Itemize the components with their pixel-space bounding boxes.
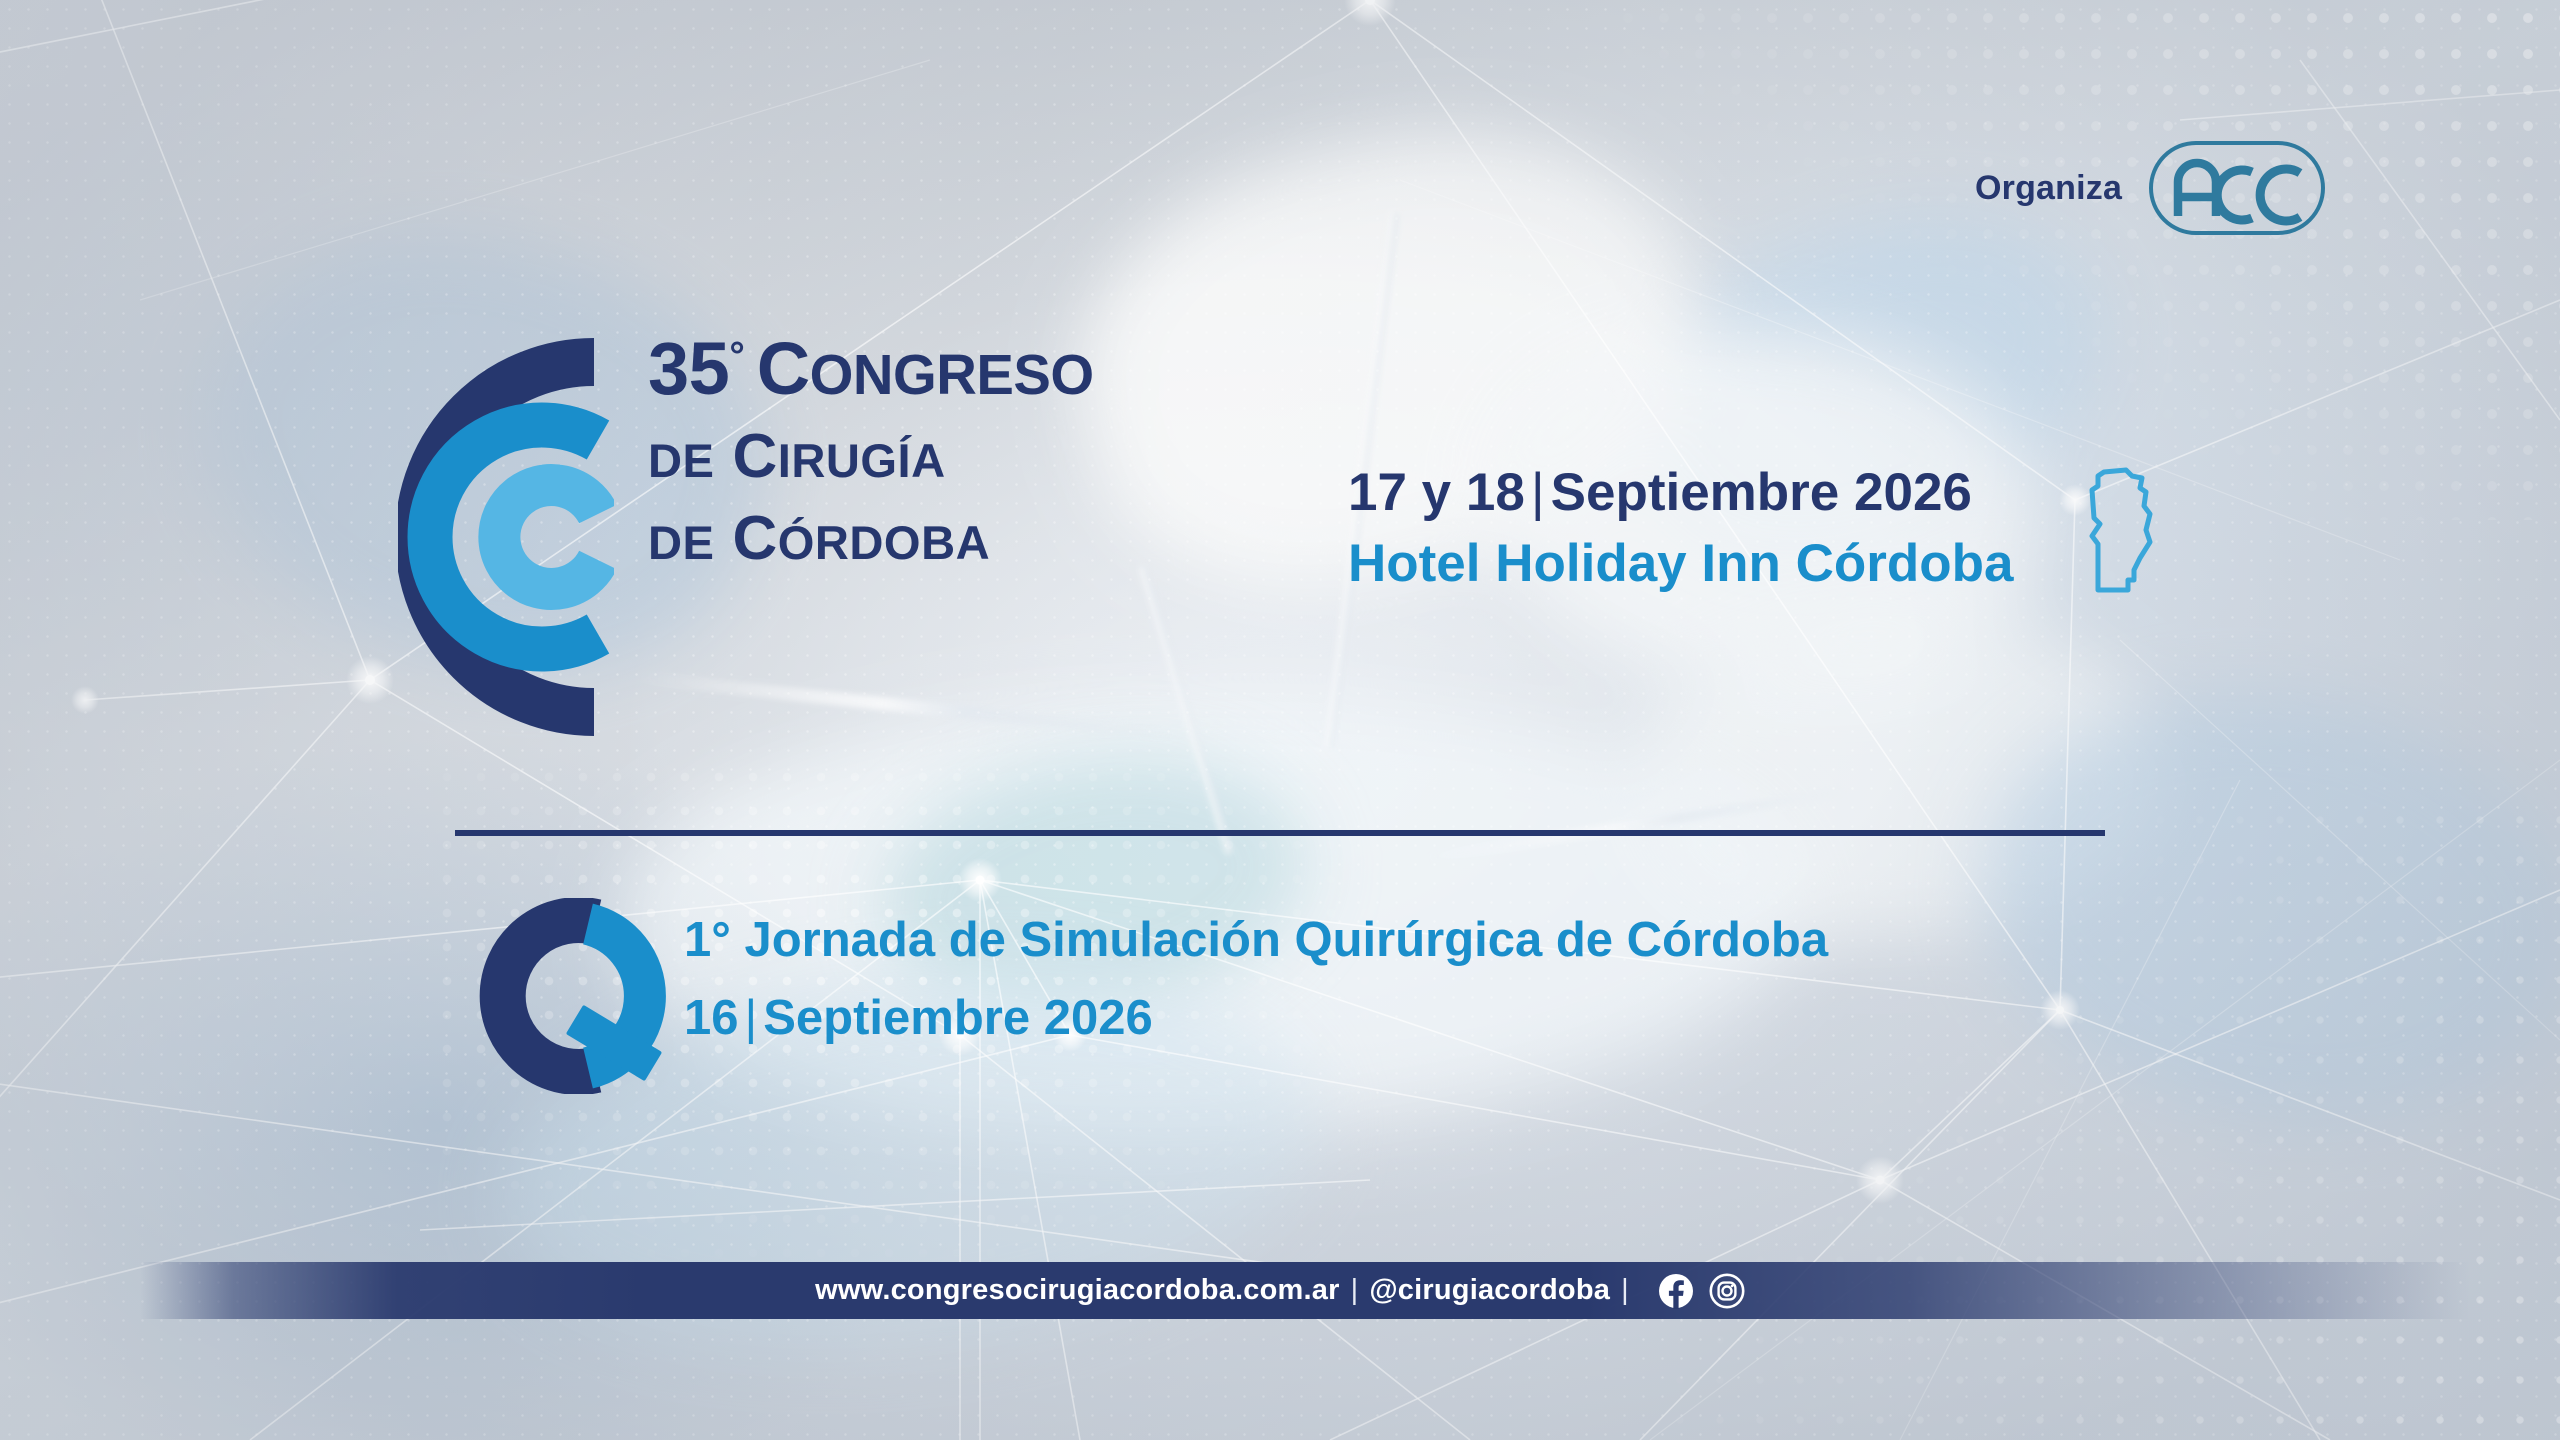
congress-de-2: DE (648, 516, 714, 569)
footer-handle[interactable]: @cirugiacordoba (1369, 1274, 1610, 1307)
footer-content: www.congresocirugiacordoba.com.ar | @cir… (0, 1262, 2560, 1319)
footer-separator-1: | (1340, 1274, 1370, 1307)
organizer-block: Organiza (1975, 140, 2326, 236)
jornada-month-year: Septiembre 2026 (763, 991, 1153, 1045)
jornada-text: 1° Jornada de Simulación Quirúrgica de C… (684, 914, 1828, 1046)
congress-banner: Organiza 35°CO (0, 0, 2560, 1440)
event-venue: Hotel Holiday Inn Córdoba (1348, 535, 2013, 592)
jornada-date-line: 16|Septiembre 2026 (684, 992, 1828, 1046)
event-date-line: 17 y 18|Septiembre 2026 (1348, 464, 2013, 521)
congress-title-text: 35°CONGRESO DECIRUGÍA DECÓRDOBA (648, 332, 1094, 570)
jornada-q-logo (470, 898, 666, 1094)
congress-lockup: 35°CONGRESO DECIRUGÍA DECÓRDOBA (398, 322, 1094, 752)
jornada-title: 1° Jornada de Simulación Quirúrgica de C… (684, 914, 1828, 968)
congress-c-logo (398, 322, 614, 752)
facebook-icon[interactable] (1658, 1273, 1694, 1309)
congress-title-line3: DECÓRDOBA (648, 508, 1094, 570)
cordoba-province-map-icon (2082, 458, 2160, 598)
social-links (1658, 1273, 1745, 1309)
organiza-label: Organiza (1975, 169, 2122, 208)
date-venue-block: 17 y 18|Septiembre 2026 Hotel Holiday In… (1348, 464, 2013, 592)
jornada-separator: | (739, 991, 764, 1045)
congress-title-line1: 35°CONGRESO (648, 332, 1094, 406)
event-month-year: Septiembre 2026 (1551, 463, 1972, 522)
acc-logo (2148, 140, 2326, 236)
date-separator: | (1525, 463, 1551, 522)
congress-de-1: DE (648, 434, 714, 487)
section-divider (455, 830, 2105, 836)
event-dates: 17 y 18 (1348, 463, 1525, 522)
congress-word: CONGRESO (757, 327, 1094, 410)
congress-number: 35 (648, 327, 729, 410)
jornada-block: 1° Jornada de Simulación Quirúrgica de C… (470, 898, 1828, 1094)
jornada-day: 16 (684, 991, 739, 1045)
congress-title-line2: DECIRUGÍA (648, 426, 1094, 488)
congress-degree: ° (729, 334, 744, 377)
footer-separator-2: | (1610, 1274, 1640, 1307)
congress-cirugia: CIRUGÍA (732, 422, 945, 491)
instagram-icon[interactable] (1709, 1273, 1745, 1309)
congress-cordoba: CÓRDOBA (732, 504, 990, 573)
footer-website[interactable]: www.congresocirugiacordoba.com.ar (815, 1274, 1339, 1307)
